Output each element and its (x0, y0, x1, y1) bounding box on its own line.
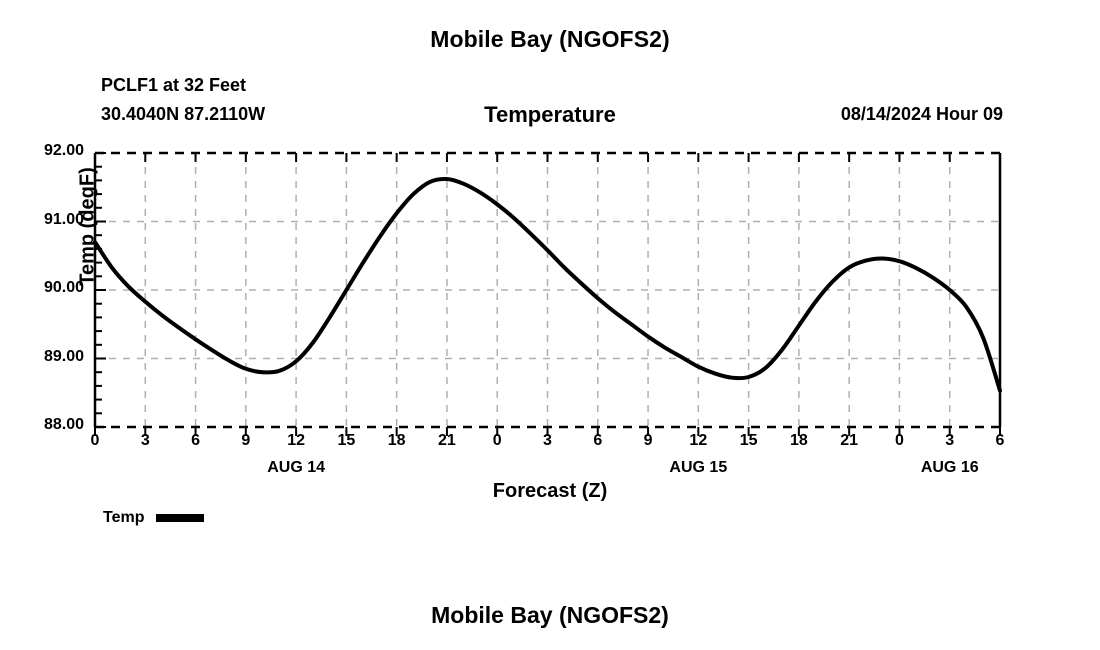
x-day-label: AUG 15 (633, 459, 763, 477)
legend: Temp (103, 509, 204, 527)
y-tick-label: 88.00 (6, 416, 84, 434)
x-tick-label: 9 (226, 432, 266, 450)
page-title: Mobile Bay (NGOFS2) (0, 26, 1100, 53)
footer-title: Mobile Bay (NGOFS2) (0, 602, 1100, 629)
x-tick-label: 21 (427, 432, 467, 450)
x-tick-label: 6 (176, 432, 216, 450)
legend-label-temp: Temp (103, 509, 144, 527)
x-tick-label: 6 (980, 432, 1020, 450)
x-tick-label: 12 (276, 432, 316, 450)
y-tick-label: 89.00 (6, 348, 84, 366)
y-tick-label: 90.00 (6, 279, 84, 297)
station-label: PCLF1 at 32 Feet (101, 75, 246, 96)
x-tick-label: 12 (678, 432, 718, 450)
x-day-label: AUG 14 (231, 459, 361, 477)
chart-page: Mobile Bay (NGOFS2) PCLF1 at 32 Feet 30.… (0, 0, 1100, 650)
x-day-label: AUG 16 (885, 459, 1015, 477)
x-tick-label: 15 (729, 432, 769, 450)
x-tick-label: 3 (930, 432, 970, 450)
x-tick-label: 3 (125, 432, 165, 450)
y-tick-label: 92.00 (6, 142, 84, 160)
temperature-line-chart (95, 153, 1000, 427)
x-tick-label: 0 (879, 432, 919, 450)
x-tick-label: 0 (75, 432, 115, 450)
x-tick-label: 0 (477, 432, 517, 450)
x-axis-label: Forecast (Z) (0, 480, 1100, 503)
y-tick-label: 91.00 (6, 211, 84, 229)
plot-area (95, 153, 1000, 427)
x-tick-label: 18 (779, 432, 819, 450)
x-tick-label: 18 (377, 432, 417, 450)
x-tick-label: 6 (578, 432, 618, 450)
x-tick-label: 3 (528, 432, 568, 450)
legend-swatch-temp (156, 514, 204, 522)
x-tick-label: 21 (829, 432, 869, 450)
x-tick-label: 15 (326, 432, 366, 450)
model-run-label: 08/14/2024 Hour 09 (841, 104, 1003, 125)
x-tick-label: 9 (628, 432, 668, 450)
